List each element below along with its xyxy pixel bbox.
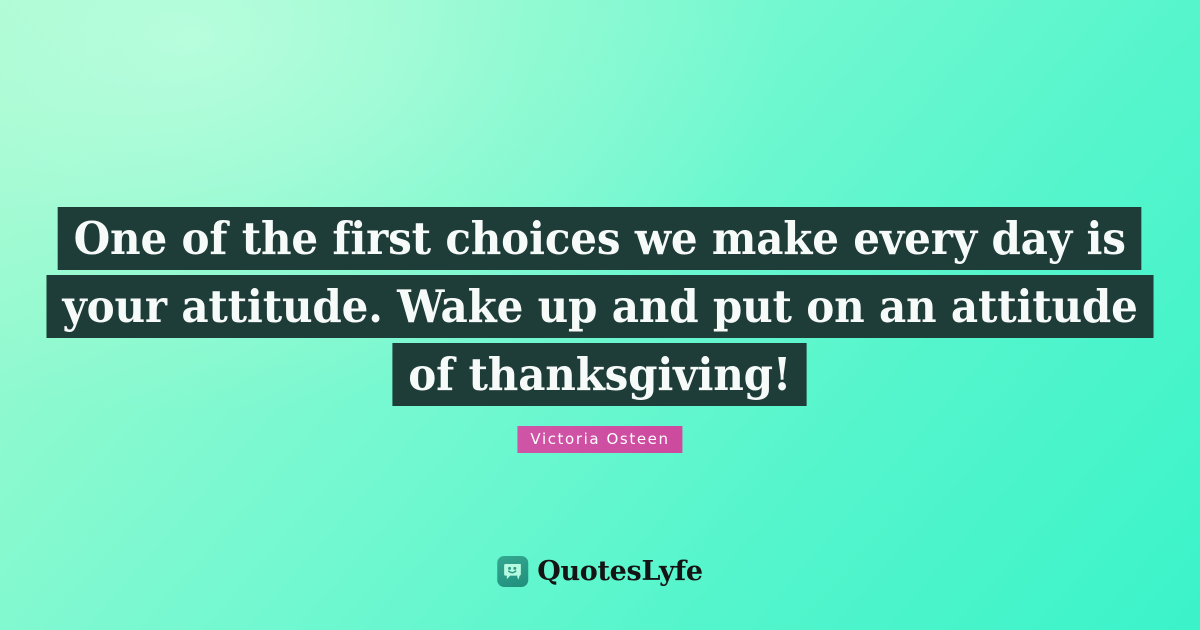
quote-line: One of the first choices we make every d… [58,207,1142,270]
brand-logo[interactable]: QuotesLyfe [497,556,703,587]
quote-line: of thanksgiving! [393,343,808,406]
author-badge: Victoria Osteen [517,426,682,453]
brand-name: QuotesLyfe [537,556,703,587]
quote-text-block: One of the first choices we make every d… [0,207,1200,406]
quote-poster: One of the first choices we make every d… [0,0,1200,630]
quote-bubble-icon [497,556,528,587]
quote-line: your attitude. Wake up and put on an att… [46,275,1153,338]
